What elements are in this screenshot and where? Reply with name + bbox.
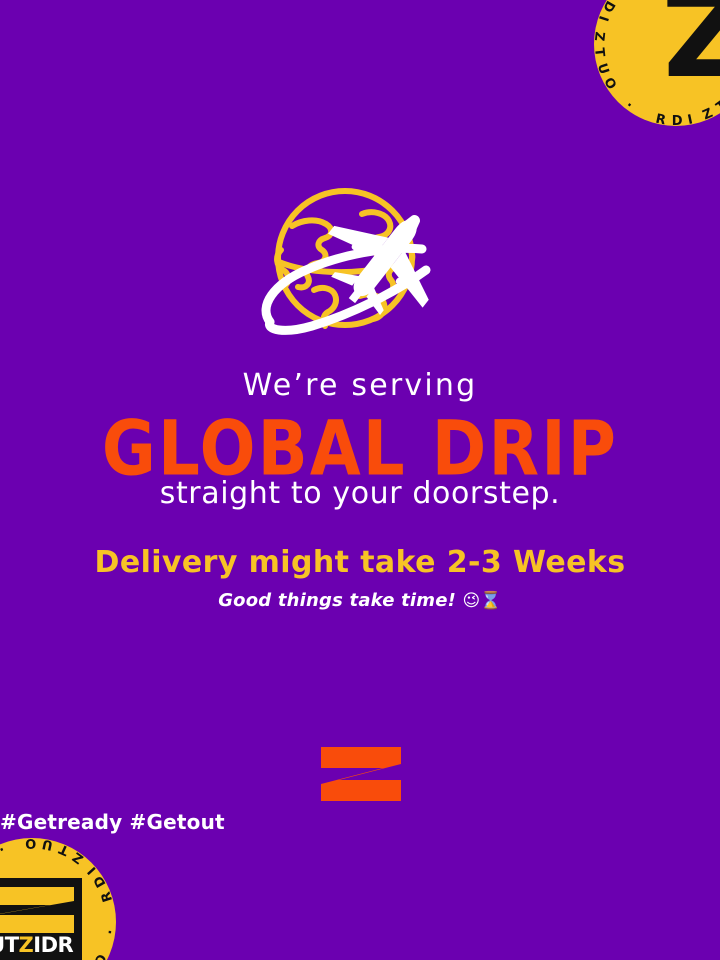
reassurance-text: Good things take time! (218, 590, 456, 611)
badge-center-letter-top-right: Z (662, 0, 720, 90)
badge-ring-char: Z (591, 31, 607, 42)
badge-ring-char: T (591, 47, 607, 57)
badge-top-right: OUTZIDR·OUTZIDR·OUTZIDR· Z (594, 0, 720, 126)
badge-wordmark-prefix: OUT (0, 933, 19, 957)
badge-wordmark-z: Z (19, 933, 34, 957)
badge-ring-char: U (594, 62, 612, 77)
outzidr-z-monogram (321, 747, 401, 801)
badge-ring-char: T (714, 98, 720, 115)
brand-tagline: #Getready #Getout (0, 812, 720, 832)
reassurance-line: Good things take time! 😉⌛ (0, 588, 720, 614)
badge-z-mark-bottom-left (0, 887, 74, 933)
badge-wordmark-suffix: IDR (33, 933, 73, 957)
badge-wordmark-bottom-left: OUTZIDR (0, 935, 73, 956)
badge-ring-char: I (595, 14, 611, 23)
badge-ring-char: U (41, 836, 54, 853)
badge-ring-char: R (654, 112, 667, 129)
badge-ring-char: · (0, 841, 7, 857)
badge-ring-char: Z (701, 106, 716, 124)
badge-ring-char: D (599, 0, 617, 15)
badge-ring-char: O (92, 952, 111, 960)
badge-core-bottom-left: OUTZIDR (0, 878, 82, 960)
badge-ring-char: Z (70, 849, 86, 867)
badge-ring-char: R (99, 890, 116, 904)
eyebrow-text: We’re serving (0, 371, 720, 401)
badge-ring-char: T (57, 841, 71, 858)
poster-canvas: We’re serving GLOBAL DRIP straight to yo… (0, 0, 720, 960)
delivery-notice-text: Delivery might take 2-3 Weeks (0, 548, 720, 578)
badge-ring-char: D (672, 114, 683, 129)
badge-ring-char: I (686, 112, 694, 128)
wink-and-hourglass-emoji: 😉⌛ (463, 591, 502, 611)
subheadline-text: straight to your doorstep. (0, 479, 720, 509)
badge-ring-char: · (623, 98, 636, 113)
badge-ring-char: O (25, 835, 36, 850)
globe-with-airplane-icon (240, 178, 485, 343)
badge-ring-char: O (600, 75, 619, 92)
badge-ring-char: · (103, 929, 118, 935)
badge-ring-char: D (91, 873, 109, 890)
badge-bottom-left: OUTZIDR·OUTZIDR·OUTZIDR· OUTZIDR (0, 838, 116, 960)
